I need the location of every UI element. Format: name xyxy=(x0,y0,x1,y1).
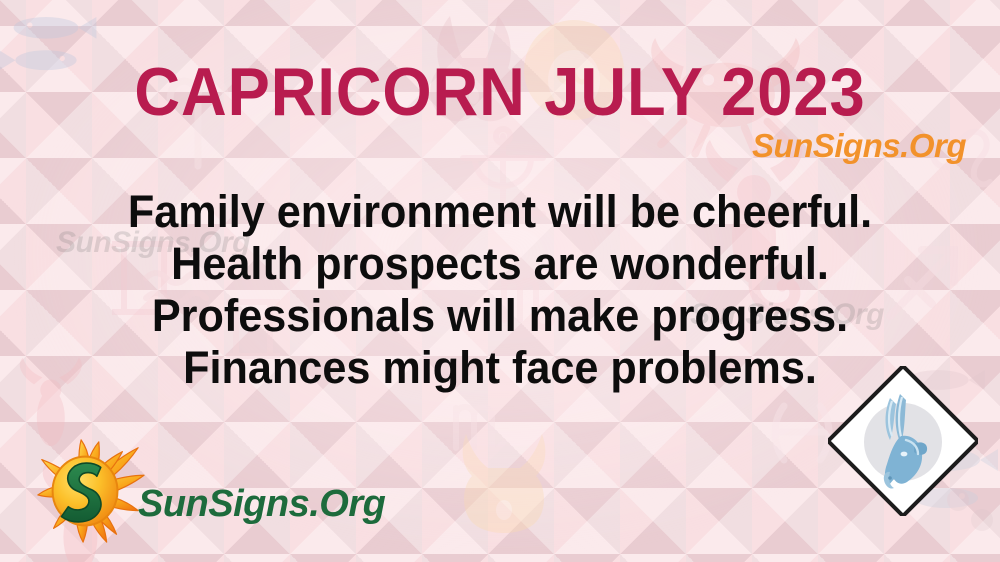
brand-watermark-top-right: SunSigns.Org xyxy=(752,129,966,162)
horoscope-message: Family environment will be cheerful. Hea… xyxy=(0,186,1000,394)
sun-logo-icon xyxy=(28,432,146,550)
message-line: Professionals will make progress. xyxy=(20,290,980,342)
horoscope-banner: CAPRICORN JULY 2023 SunSigns.Org SunSign… xyxy=(0,0,1000,562)
message-line: Family environment will be cheerful. xyxy=(20,186,980,238)
site-logo-text: SunSigns.Org xyxy=(138,485,385,523)
page-title: CAPRICORN JULY 2023 xyxy=(35,58,965,126)
capricorn-sign-badge xyxy=(828,366,978,516)
message-line: Health prospects are wonderful. xyxy=(20,238,980,290)
site-logo[interactable]: SunSigns.Org xyxy=(28,432,385,550)
